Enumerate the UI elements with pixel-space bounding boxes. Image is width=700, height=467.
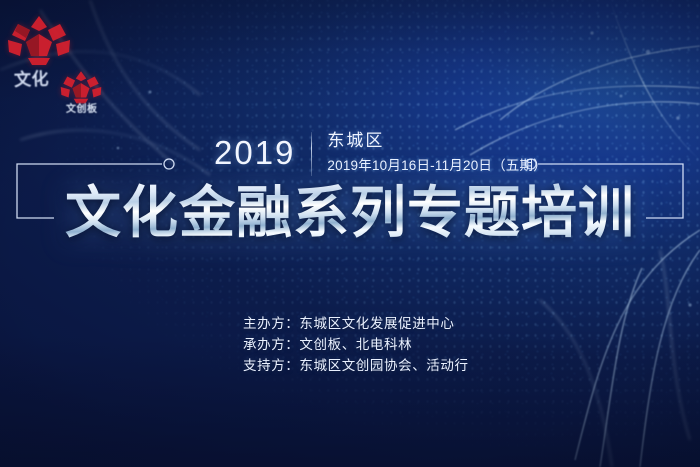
credit-line-host: 承办方：文创板、北电科林: [243, 334, 469, 355]
main-title: 文化金融系列专题培训: [65, 183, 635, 245]
date-range-label: 2019年10月16日-11月20日（五期）: [327, 154, 547, 174]
credit-line-supporters: 支持方：东城区文创园协会、活动行: [243, 355, 469, 376]
wenchuangban-wordmark-small: 文创板: [66, 100, 98, 115]
wenchuangban-wordmark-large: 文化: [14, 64, 50, 90]
wenchuangban-crest-small-icon: [58, 70, 104, 104]
year-label: 2019: [214, 128, 295, 169]
wenchuangban-crest-large-icon: [6, 14, 72, 66]
poster-canvas: 文化 文创板: [0, 0, 700, 467]
logo-cluster: 文化 文创板: [0, 8, 140, 120]
district-label: 东城区: [327, 130, 547, 151]
header-text-block: 东城区 2019年10月16日-11月20日（五期）: [327, 128, 547, 174]
credit-line-organizer: 主办方：东城区文化发展促进中心: [243, 313, 469, 334]
main-title-wrap: 文化金融系列专题培训: [0, 183, 700, 245]
credits-block: 主办方：东城区文化发展促进中心 承办方：文创板、北电科林 支持方：东城区文创园协…: [243, 313, 469, 376]
header-row: 2019 东城区 2019年10月16日-11月20日（五期）: [214, 128, 547, 176]
header-divider: [311, 132, 312, 176]
